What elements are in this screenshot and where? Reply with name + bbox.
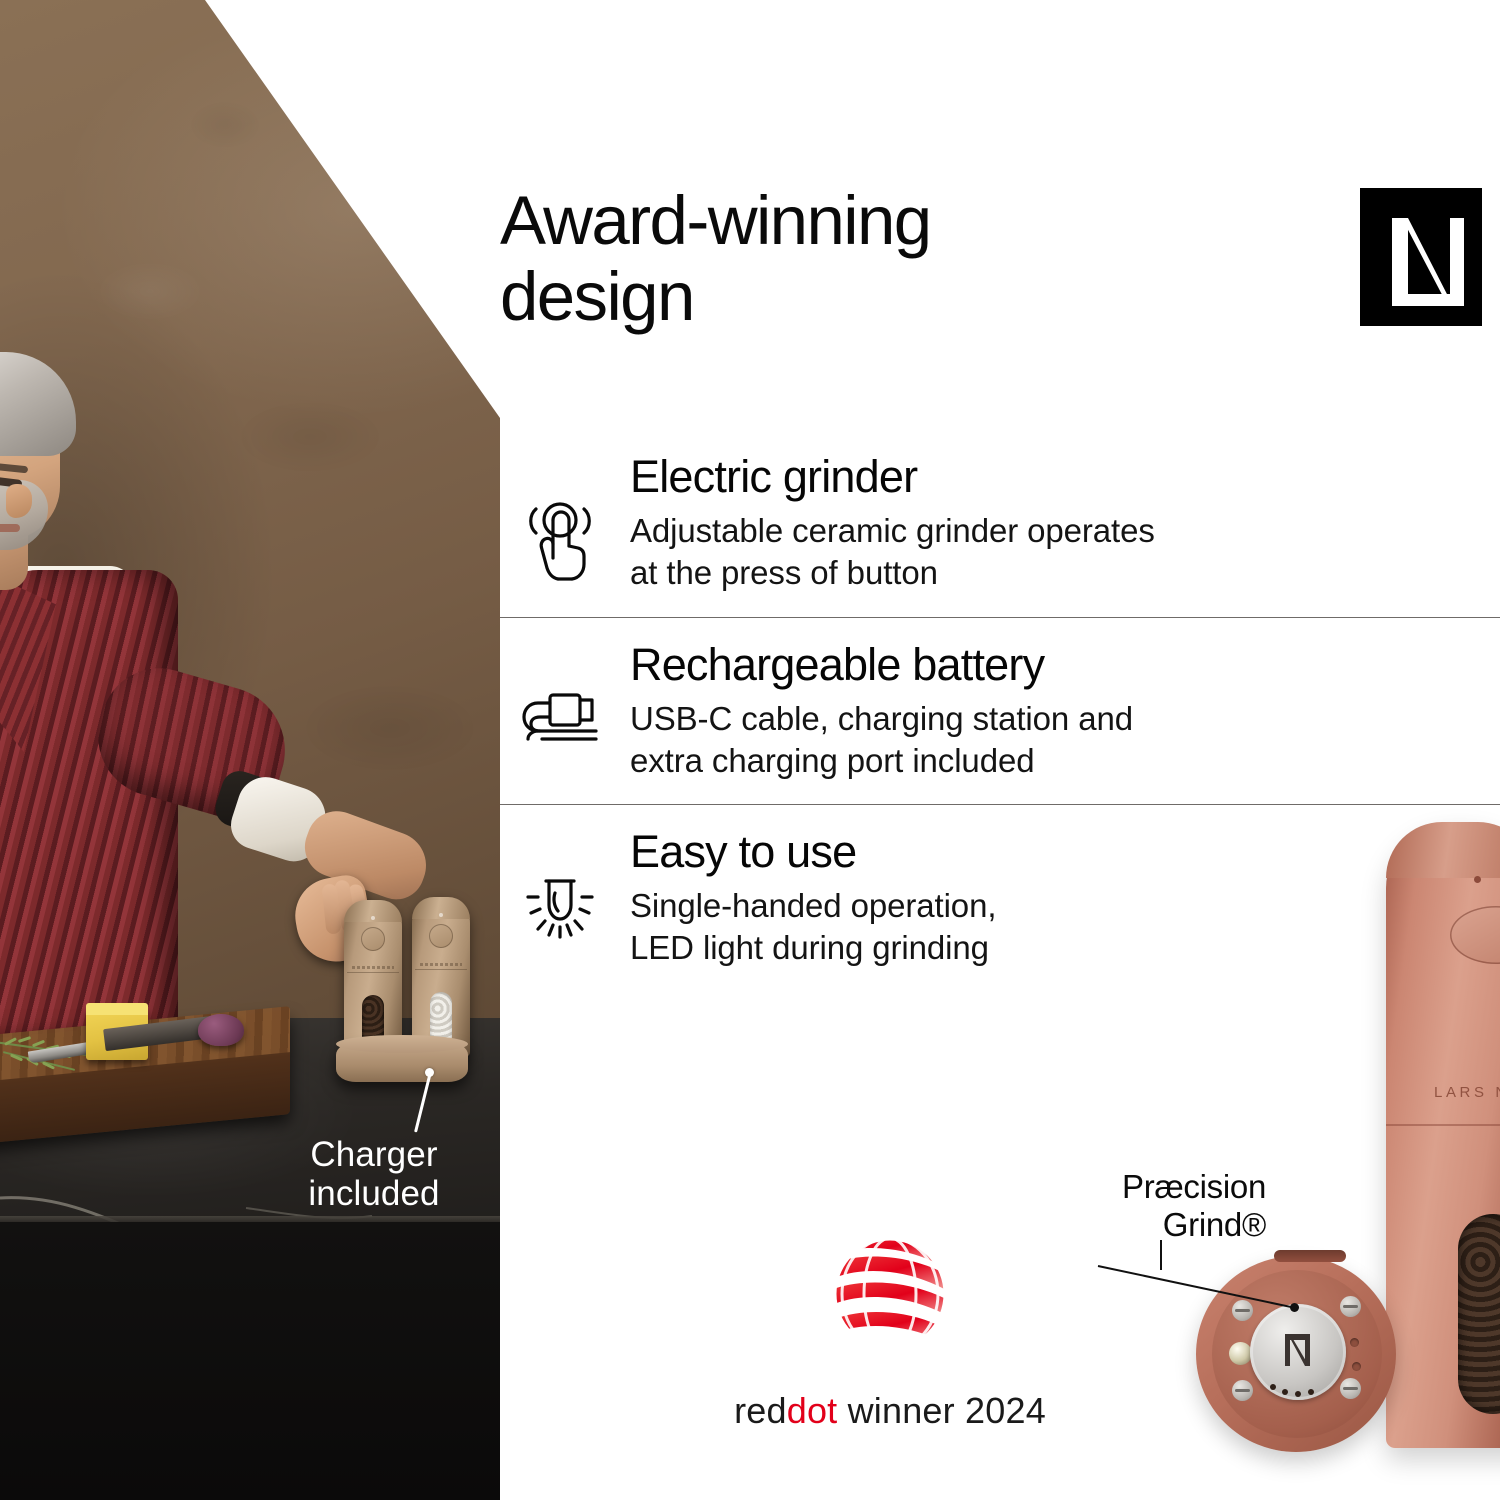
feature-body-line1: Single-handed operation, [630, 885, 1500, 927]
salt-grinder [412, 897, 470, 1057]
dial-ln-logo-icon [1282, 1330, 1316, 1370]
feature-heading: Electric grinder [630, 452, 1500, 502]
feature-body-line2: LED light during grinding [630, 927, 1500, 969]
feature-list: Electric grinder Adjustable ceramic grin… [500, 430, 1500, 993]
red-dot-award-text: reddot winner 2024 [700, 1390, 1080, 1432]
title-line-1: Award-winning [500, 183, 1140, 259]
usb-c-cable-icon [500, 640, 620, 754]
product-grinder-base-view [1196, 1256, 1412, 1472]
feature-body-line1: USB-C cable, charging station and [630, 698, 1500, 740]
feature-rechargeable-battery: Rechargeable battery USB-C cable, chargi… [500, 618, 1500, 806]
product-infographic: Charger included Award-winning design [0, 0, 1500, 1500]
feature-heading: Easy to use [630, 827, 1500, 877]
feature-body-line1: Adjustable ceramic grinder operates [630, 510, 1500, 552]
lifestyle-photo: Charger included [0, 0, 500, 1500]
beetroot [198, 1014, 244, 1046]
red-dot-award: reddot winner 2024 [700, 1238, 1080, 1432]
man-figure [0, 352, 290, 1052]
reddot-word-dot: dot [787, 1390, 838, 1431]
precision-callout-dot [1290, 1303, 1299, 1312]
charger-callout-line2: included [262, 1174, 486, 1213]
precision-callout-vline [1160, 1240, 1162, 1270]
led-lamp [1229, 1342, 1252, 1365]
title-line-2: design [500, 259, 1140, 335]
led-light-icon [500, 827, 620, 949]
reddot-winner-year: winner 2024 [837, 1390, 1046, 1431]
red-dot-sphere-icon [834, 1238, 946, 1350]
feature-heading: Rechargeable battery [630, 640, 1500, 690]
feature-electric-grinder: Electric grinder Adjustable ceramic grin… [500, 430, 1500, 618]
grinder-cap [1386, 822, 1500, 878]
brand-logo [1360, 188, 1482, 326]
peppercorn-window [1458, 1214, 1500, 1414]
grind-slot [1274, 1250, 1346, 1262]
feature-easy-to-use: Easy to use Single-handed operation, LED… [500, 805, 1500, 993]
product-brand-text: LARS NYS [1434, 1084, 1500, 1101]
feature-body-line2: extra charging port included [630, 740, 1500, 782]
tap-press-icon [500, 452, 620, 582]
grey-hair [0, 352, 76, 456]
precision-callout-line1: Præcision [1000, 1168, 1266, 1206]
led-indicator [1474, 876, 1481, 883]
reddot-word-red: red [734, 1390, 787, 1431]
ln-monogram-icon [1360, 188, 1482, 326]
precision-callout-line2: Grind® [1000, 1206, 1266, 1244]
precision-grind-callout-text: Præcision Grind® [1000, 1168, 1266, 1245]
feature-body-line2: at the press of button [630, 552, 1500, 594]
counter-front [0, 1222, 500, 1500]
page-title: Award-winning design [500, 183, 1140, 335]
charger-callout-line1: Charger [262, 1135, 486, 1174]
charger-callout-text: Charger included [262, 1135, 486, 1213]
